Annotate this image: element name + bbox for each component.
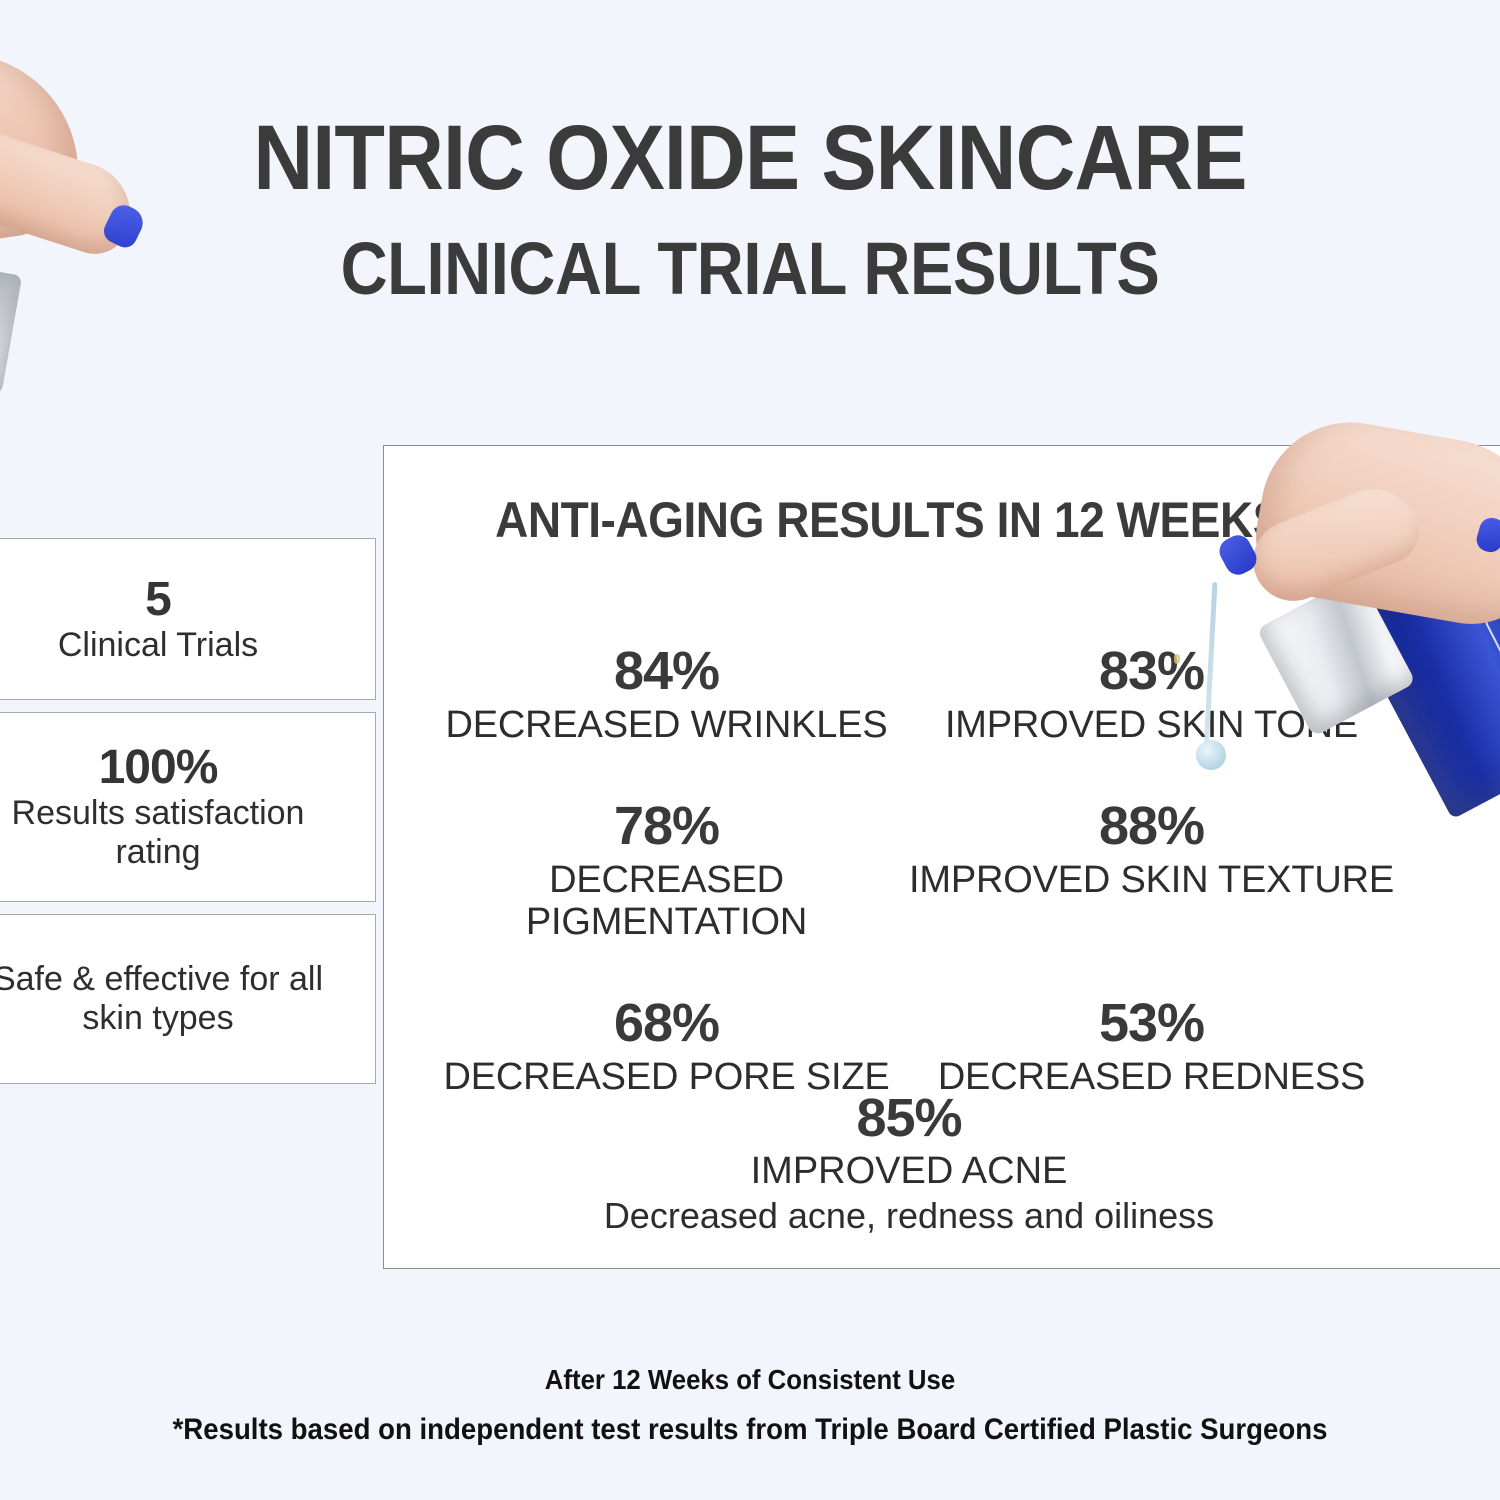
product-image-left-bottle-pouring: N O — [0, 28, 295, 508]
stat-improved-skin-tone: 83% IMPROVED SKIN TONE — [909, 644, 1394, 747]
highlight-card-list: 5 Clinical Trials 100% Results satisfact… — [0, 538, 376, 1084]
stat-label: DECREASED PIGMENTATION — [424, 859, 909, 944]
footer-line-1: After 12 Weeks of Consistent Use — [60, 1362, 1440, 1397]
stat-improved-acne: 85% IMPROVED ACNE Decreased acne, rednes… — [424, 1091, 1394, 1237]
stat-label: IMPROVED SKIN TONE — [909, 704, 1394, 747]
stat-improved-skin-texture: 88% IMPROVED SKIN TEXTURE — [909, 799, 1394, 944]
stat-sublabel: Decreased acne, redness and oiliness — [424, 1195, 1394, 1237]
finger-left — [0, 119, 143, 263]
stat-percent: 84% — [424, 644, 909, 698]
stat-decreased-wrinkles: 84% DECREASED WRINKLES — [424, 644, 909, 747]
stat-decreased-redness: 53% DECREASED REDNESS — [909, 996, 1394, 1099]
stat-row: 84% DECREASED WRINKLES 83% IMPROVED SKIN… — [424, 644, 1394, 747]
stat-row: 78% DECREASED PIGMENTATION 88% IMPROVED … — [424, 799, 1394, 944]
card-number: 100% — [99, 742, 218, 794]
headline-line-1: NITRIC OXIDE SKINCARE — [75, 112, 1425, 204]
highlight-card-skin-types: Safe & effective for all skin types — [0, 914, 376, 1084]
stat-percent: 68% — [424, 996, 909, 1050]
highlight-card-satisfaction: 100% Results satisfaction rating — [0, 712, 376, 902]
stat-label: IMPROVED SKIN TEXTURE — [909, 859, 1394, 902]
footer-line-2: *Results based on independent test resul… — [60, 1411, 1440, 1449]
stat-decreased-pigmentation: 78% DECREASED PIGMENTATION — [424, 799, 909, 944]
stat-percent: 88% — [909, 799, 1394, 853]
stat-decreased-pore-size: 68% DECREASED PORE SIZE — [424, 996, 909, 1099]
fingernail-left — [100, 201, 148, 252]
infographic-root: N O NITRIC OXIDE SKINCARE CLINICAL TRIAL… — [0, 0, 1500, 1500]
stat-percent: 78% — [424, 799, 909, 853]
highlight-card-clinical-trials: 5 Clinical Trials — [0, 538, 376, 700]
stat-percent: 83% — [909, 644, 1394, 698]
stat-label: IMPROVED ACNE — [424, 1149, 1394, 1193]
page-title: NITRIC OXIDE SKINCARE CLINICAL TRIAL RES… — [0, 112, 1500, 306]
results-stat-grid: 84% DECREASED WRINKLES 83% IMPROVED SKIN… — [424, 644, 1394, 1098]
stat-label: DECREASED WRINKLES — [424, 704, 909, 747]
footer-disclaimer: After 12 Weeks of Consistent Use *Result… — [0, 1362, 1500, 1449]
stat-percent: 85% — [424, 1091, 1394, 1145]
headline-line-2: CLINICAL TRIAL RESULTS — [90, 232, 1410, 306]
card-caption: Safe & effective for all skin types — [0, 960, 341, 1038]
bottle-pump-cap — [0, 256, 22, 394]
results-panel: ANTI-AGING RESULTS IN 12 WEEKS 84% DECRE… — [383, 445, 1500, 1269]
card-number: 5 — [145, 574, 171, 626]
hand-left — [0, 38, 87, 268]
stat-percent: 53% — [909, 996, 1394, 1050]
results-panel-title: ANTI-AGING RESULTS IN 12 WEEKS — [424, 492, 1353, 548]
card-caption: Clinical Trials — [58, 626, 258, 665]
card-caption: Results satisfaction rating — [0, 794, 341, 872]
stat-row: 68% DECREASED PORE SIZE 53% DECREASED RE… — [424, 996, 1394, 1099]
